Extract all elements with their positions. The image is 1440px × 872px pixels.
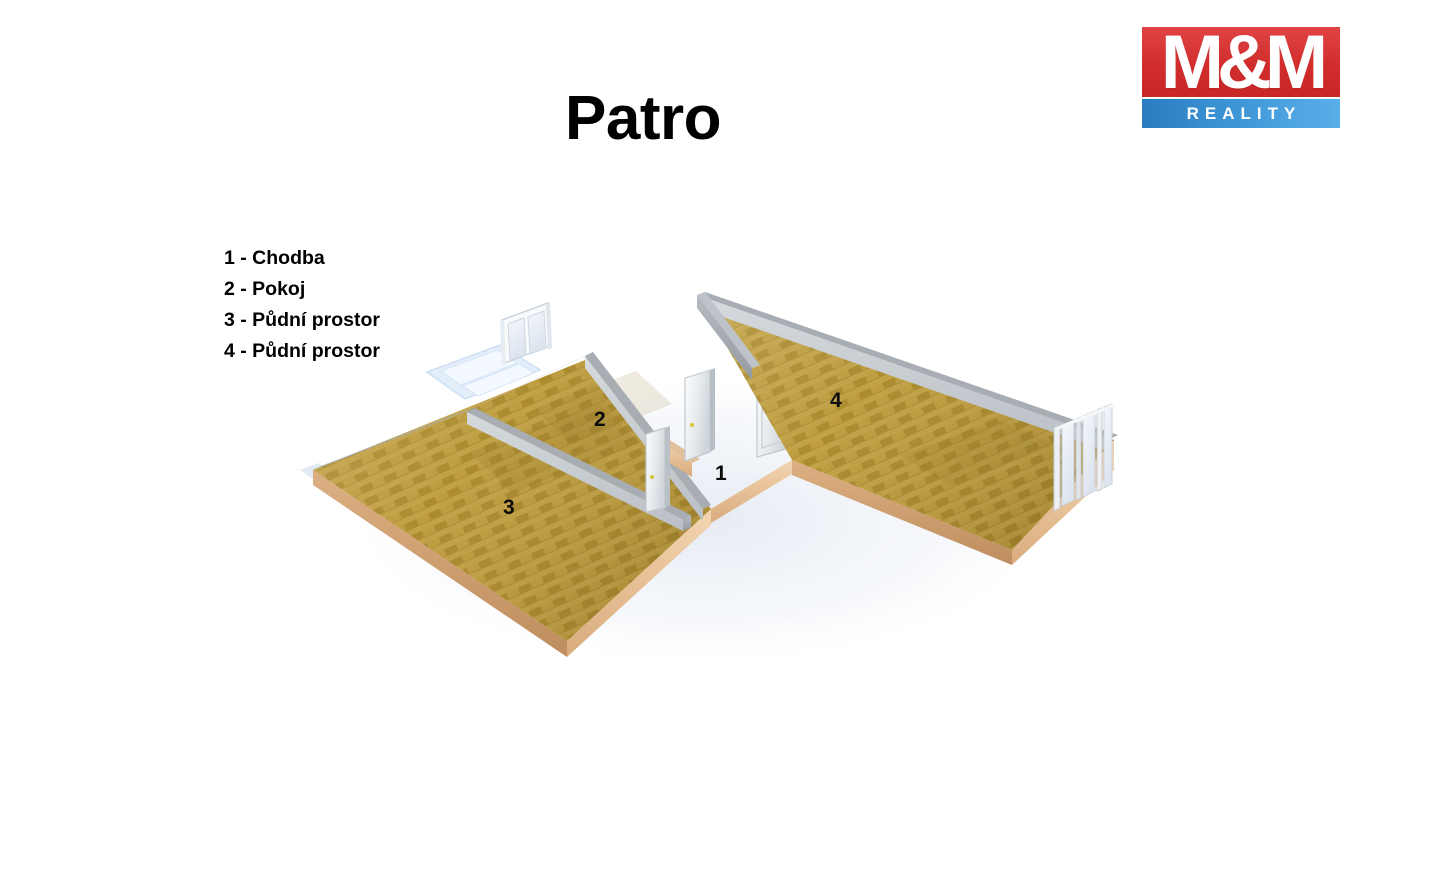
door-panel-a-edge — [665, 426, 670, 508]
door-handle-a[interactable] — [650, 475, 654, 479]
window-wall-pane-2[interactable] — [1083, 411, 1095, 497]
window-pane-right — [528, 311, 546, 354]
floorplan-page: Patro 1 - Chodba 2 - Pokoj 3 - Půdní pro… — [0, 0, 1440, 872]
door-panel-b[interactable] — [685, 370, 710, 461]
door-handle-b[interactable] — [690, 423, 694, 427]
floorplan-3d-view: 1 2 3 4 — [0, 0, 1440, 872]
door-panel-b-edge — [710, 368, 715, 452]
window-wall-pane-3[interactable] — [1104, 404, 1112, 488]
floorplan-svg — [0, 0, 1440, 872]
window-wall-post-2[interactable] — [1076, 417, 1081, 500]
room-label-2: 2 — [594, 408, 606, 432]
door-panel-a[interactable] — [646, 428, 665, 512]
room-label-4: 4 — [830, 389, 842, 413]
window-pane-left — [508, 318, 526, 360]
window-wall-post-1[interactable] — [1054, 426, 1060, 511]
room-label-1: 1 — [715, 462, 727, 486]
window-wall-post-3[interactable] — [1097, 408, 1102, 491]
room-label-3: 3 — [503, 496, 515, 520]
window-wall-pane-1[interactable] — [1062, 420, 1074, 506]
